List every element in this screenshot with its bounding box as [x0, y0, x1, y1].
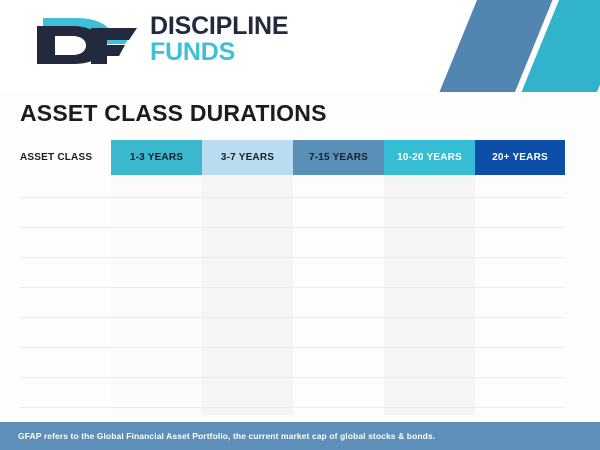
- table-row: [20, 317, 565, 318]
- column-header-label: ASSET CLASS: [20, 152, 92, 163]
- column-header-20-plus-years: 20+ YEARS: [475, 140, 565, 175]
- table-row-dividers: [0, 175, 600, 415]
- column-header-7-15-years: 7-15 YEARS: [293, 140, 384, 175]
- table-row: [20, 257, 565, 258]
- table-row: [20, 347, 565, 348]
- slide-canvas: DISCIPLINE FUNDS ASSET CLASS DURATIONS A…: [0, 0, 600, 450]
- slide-header: DISCIPLINE FUNDS: [0, 0, 600, 92]
- table-row: [20, 377, 565, 378]
- brand-name-line2: FUNDS: [150, 39, 288, 65]
- column-header-asset-class: ASSET CLASS: [20, 140, 111, 175]
- column-header-10-20-years: 10-20 YEARS: [384, 140, 475, 175]
- df-monogram-icon: [33, 14, 141, 66]
- column-header-1-3-years: 1-3 YEARS: [111, 140, 202, 175]
- table-row: [20, 407, 565, 408]
- page-title: ASSET CLASS DURATIONS: [20, 100, 327, 127]
- brand-wordmark: DISCIPLINE FUNDS: [150, 14, 288, 65]
- asset-class-duration-table: ASSET CLASS 1-3 YEARS 3-7 YEARS 7-15 YEA…: [0, 140, 600, 415]
- brand-name-line1: DISCIPLINE: [150, 14, 288, 39]
- table-header-row: ASSET CLASS 1-3 YEARS 3-7 YEARS 7-15 YEA…: [0, 140, 600, 175]
- table-row: [20, 287, 565, 288]
- footer-note: GFAP refers to the Global Financial Asse…: [18, 422, 435, 450]
- table-row: [20, 227, 565, 228]
- table-row: [20, 197, 565, 198]
- brand-logo: DISCIPLINE FUNDS: [33, 12, 333, 70]
- column-header-3-7-years: 3-7 YEARS: [202, 140, 293, 175]
- footer-bar: GFAP refers to the Global Financial Asse…: [0, 422, 600, 450]
- table-body: [0, 175, 600, 415]
